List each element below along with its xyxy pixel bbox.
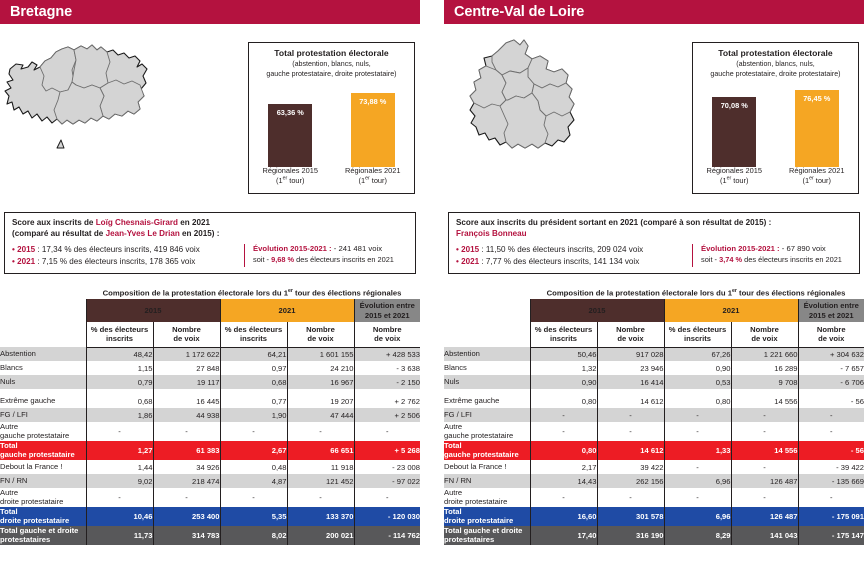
table-row: FN / RN9,02218 4744,87121 452- 97 022 (0, 474, 420, 488)
cell-pct-2021: - (220, 488, 287, 507)
table-row: Debout la France !1,4434 9260,4811 918- … (0, 460, 420, 474)
cell-pct-2021: - (220, 422, 287, 441)
cell-nb-2021: - (731, 460, 798, 474)
row-label: Totaldroite protestataire (0, 507, 86, 526)
cell-nb-2015: - (597, 422, 664, 441)
cell-evolution: - 120 030 (354, 507, 420, 526)
row-label: Autregauche protestataire (0, 422, 86, 441)
row-label-line2: gauche protestataire (0, 450, 75, 459)
subheader-pct-2021-l1: % des électeurs (225, 325, 282, 334)
cell-evolution: - 56 (798, 394, 864, 408)
table-header-groups: 2015 2021 Évolution entre 2015 et 2021 (0, 299, 420, 322)
table-caption-post: tour des élections régionales (293, 289, 402, 298)
subheader-pct-2021-l1: % des électeurs (669, 325, 726, 334)
row-label-line1: Autre (0, 488, 18, 497)
infographic-page: Bretagne Total protestation électorale (0, 0, 864, 569)
cell-nb-2021: 14 556 (731, 441, 798, 460)
cell-pct-2021: 0,97 (220, 361, 287, 375)
row-label: Abstention (0, 347, 86, 361)
subheader-nb-evo: Nombrede voix (354, 322, 420, 347)
bar-label-2021: Régionales 2021 (1er tour) (334, 167, 412, 189)
cell-nb-2021: 141 043 (731, 526, 798, 545)
cell-pct-2015: 1,86 (86, 408, 153, 422)
cell-evolution: - (354, 422, 420, 441)
table-caption-post: tour des élections régionales (737, 289, 846, 298)
table-row: Totalgauche protestataire0,8014 6121,331… (444, 441, 864, 460)
bretagne-map-svg (4, 28, 164, 178)
table-row: Totaldroite protestataire16,60301 5786,9… (444, 507, 864, 526)
cell-nb-2015: 34 926 (153, 460, 220, 474)
cell-evolution: - 135 669 (798, 474, 864, 488)
cell-pct-2021: 2,67 (220, 441, 287, 460)
table-row: Autregauche protestataire----- (0, 422, 420, 441)
cell-evolution: - 3 638 (354, 361, 420, 375)
score-evolution-column: Évolution 2015-2021 : - 67 890 voix soit… (692, 244, 852, 267)
row-label: Debout la France ! (0, 460, 86, 474)
cell-nb-2015: 218 474 (153, 474, 220, 488)
cell-pct-2015: 11,73 (86, 526, 153, 545)
protest-chart-box: Total protestation électorale (abstentio… (692, 42, 859, 194)
cell-pct-2015: - (530, 488, 597, 507)
cell-evolution: - 56 (798, 441, 864, 460)
cell-nb-2015: 27 848 (153, 361, 220, 375)
score-box: Score aux inscrits du président sortant … (448, 212, 860, 274)
score-heading: Score aux inscrits du président sortant … (456, 218, 852, 239)
row-label-line1: Total (0, 441, 18, 450)
cell-pct-2021: - (664, 460, 731, 474)
table-row: FG / LFI----- (444, 408, 864, 422)
cell-nb-2015: 917 028 (597, 347, 664, 361)
composition-table-body: Abstention48,421 172 62264,211 601 155+ … (0, 347, 420, 545)
cell-nb-2021: - (731, 488, 798, 507)
cell-pct-2015: 1,44 (86, 460, 153, 474)
bar-label-2015-line1: Régionales 2015 (263, 166, 318, 175)
evolution-label: Évolution 2015-2021 : (701, 244, 782, 253)
cell-nb-2021: 121 452 (287, 474, 354, 488)
cell-evolution: - 6 706 (798, 375, 864, 389)
row-label-line1: Autre (0, 422, 18, 431)
cell-nb-2015: 16 414 (597, 375, 664, 389)
header-evolution: Évolution entre 2015 et 2021 (354, 299, 420, 322)
cell-evolution: - 97 022 (354, 474, 420, 488)
row-label: Abstention (444, 347, 530, 361)
bar-label-2021: Régionales 2021 (1er tour) (778, 167, 856, 189)
cell-nb-2021: 24 210 (287, 361, 354, 375)
bullet-icon: • (456, 257, 459, 266)
composition-table-body: Abstention50,46917 02867,261 221 660+ 30… (444, 347, 864, 545)
centre-val-de-loire-map-svg (462, 30, 612, 180)
cell-pct-2015: 48,42 (86, 347, 153, 361)
header-spacer (0, 299, 86, 322)
cell-evolution: - 175 091 (798, 507, 864, 526)
bar-label-2021-line1: Régionales 2021 (345, 166, 400, 175)
table-caption: Composition de la protestation électoral… (0, 288, 418, 298)
score-heading: Score aux inscrits de Loïg Chesnais-Gira… (12, 218, 408, 239)
score-candidate-name: François Bonneau (456, 229, 527, 238)
score-columns: • 2015 : 17,34 % des électeurs inscrits,… (12, 244, 408, 267)
score-head2-post: en 2015) : (180, 229, 220, 238)
subheader-pct-2015-l2: inscrits (550, 334, 577, 343)
bar-column-2015: 70,08 % (711, 97, 757, 167)
header-spacer (444, 299, 530, 322)
region-title: Bretagne (0, 4, 72, 20)
centre-val-de-loire-map (462, 30, 622, 180)
subheader-nb-2015-l2: de voix (173, 334, 199, 343)
evolution-sub-pct: 9,68 % (271, 255, 294, 264)
cell-pct-2021: 0,53 (664, 375, 731, 389)
row-label: Autredroite protestataire (444, 488, 530, 507)
row-label-line2: droite protestataire (444, 497, 507, 506)
row-label-line2: droite protestataire (0, 516, 69, 525)
bar-2021: 76,45 % (795, 90, 839, 167)
score-candidate-2021: Loïg Chesnais-Girard (96, 218, 178, 227)
cell-nb-2021: 1 221 660 (731, 347, 798, 361)
table-row: Autredroite protestataire----- (0, 488, 420, 507)
bullet-icon: • (12, 257, 15, 266)
cell-pct-2015: 16,60 (530, 507, 597, 526)
table-row: Abstention50,46917 02867,261 221 660+ 30… (444, 347, 864, 361)
cell-pct-2015: 9,02 (86, 474, 153, 488)
evolution-subline: soit - 9,68 % des électeurs inscrits en … (253, 255, 408, 266)
cell-evolution: + 428 533 (354, 347, 420, 361)
row-label: FN / RN (444, 474, 530, 488)
map-and-chart-row: Total protestation électorale (abstentio… (444, 24, 864, 199)
bar-label-2015-line2: (1er tour) (720, 176, 748, 185)
row-label: Total gauche et droiteprotestataires (444, 526, 530, 545)
subheader-nb-evo-l2: de voix (374, 334, 400, 343)
score-candidate-2015: Jean-Yves Le Drian (106, 229, 180, 238)
table-row: Nuls0,9016 4140,539 708- 6 706 (444, 375, 864, 389)
row-label-line1: Total (444, 441, 462, 450)
chart-bar-labels: Régionales 2015 (1er tour) Régionales 20… (249, 167, 414, 189)
score-2015-year: 2015 (17, 245, 35, 254)
cell-pct-2015: - (86, 488, 153, 507)
score-left-column: • 2015 : 17,34 % des électeurs inscrits,… (12, 244, 244, 267)
cell-evolution: - 39 422 (798, 460, 864, 474)
chart-subtitle-line1: (abstention, blancs, nuls, (693, 60, 858, 69)
table-row: Autregauche protestataire----- (444, 422, 864, 441)
score-2015-rest: : 11,50 % des électeurs inscrits, 209 02… (479, 245, 643, 254)
table-row: Totalgauche protestataire1,2761 3832,676… (0, 441, 420, 460)
header-evolution-line2: 2015 et 2021 (809, 311, 854, 320)
bar-2015: 70,08 % (712, 97, 756, 167)
table-row: FN / RN14,43262 1566,96126 487- 135 669 (444, 474, 864, 488)
score-2021-year: 2021 (461, 257, 479, 266)
header-evolution-line1: Évolution entre (804, 301, 859, 310)
cell-nb-2021: - (287, 422, 354, 441)
evolution-sub-post: des électeurs inscrits en 2021 (742, 255, 842, 264)
bar-value-2021: 73,88 % (359, 97, 386, 167)
bullet-icon: • (12, 245, 15, 254)
cell-pct-2021: 6,96 (664, 507, 731, 526)
subheader-nb-2015: Nombrede voix (153, 322, 220, 347)
evolution-sub-pre: soit - (253, 255, 271, 264)
header-2021: 2021 (664, 299, 798, 322)
score-line-2021: • 2021 : 7,77 % des électeurs inscrits, … (456, 256, 692, 267)
protest-chart-box: Total protestation électorale (abstentio… (248, 42, 415, 194)
cell-evolution: - (798, 408, 864, 422)
score-2021-rest: : 7,77 % des électeurs inscrits, 141 134… (479, 257, 639, 266)
row-label-line2: gauche protestataire (0, 431, 69, 440)
region-title: Centre-Val de Loire (444, 4, 584, 20)
bar-label-2015-line2: (1er tour) (276, 176, 304, 185)
cell-nb-2021: 47 444 (287, 408, 354, 422)
score-evolution-column: Évolution 2015-2021 : - 241 481 voix soi… (244, 244, 408, 267)
subheader-nb-evo-l2: de voix (818, 334, 844, 343)
cell-nb-2021: 1 601 155 (287, 347, 354, 361)
subheader-spacer (0, 322, 86, 347)
table-caption: Composition de la protestation électoral… (444, 288, 862, 298)
cell-nb-2015: - (597, 408, 664, 422)
row-label: Extrême gauche (444, 394, 530, 408)
row-label: Total gauche et droiteprotestataires (0, 526, 86, 545)
chart-bars: 63,36 % 73,88 % (249, 75, 414, 167)
cell-nb-2021: 200 021 (287, 526, 354, 545)
chart-title: Total protestation électorale (693, 49, 858, 59)
cell-nb-2015: 44 938 (153, 408, 220, 422)
subheader-nb-evo-l1: Nombre (373, 325, 402, 334)
table-row: Debout la France !2,1739 422--- 39 422 (444, 460, 864, 474)
subheader-pct-2021: % des électeursinscrits (664, 322, 731, 347)
cell-nb-2021: 19 207 (287, 394, 354, 408)
bretagne-map (4, 28, 164, 178)
table-header-subs: % des électeursinscrits Nombrede voix % … (0, 322, 420, 347)
subheader-pct-2015: % des électeursinscrits (86, 322, 153, 347)
cell-pct-2021: - (664, 408, 731, 422)
table-header-groups: 2015 2021 Évolution entre 2015 et 2021 (444, 299, 864, 322)
cell-nb-2015: 316 190 (597, 526, 664, 545)
bar-label-2021-line2: (1er tour) (359, 176, 387, 185)
row-label: Autredroite protestataire (0, 488, 86, 507)
score-2015-year: 2015 (461, 245, 479, 254)
bar-2015: 63,36 % (268, 104, 312, 167)
cell-nb-2021: 14 556 (731, 394, 798, 408)
row-label: FG / LFI (444, 408, 530, 422)
chart-bar-labels: Régionales 2015 (1er tour) Régionales 20… (693, 167, 858, 189)
bar-value-2015: 63,36 % (277, 108, 304, 167)
evolution-line: Évolution 2015-2021 : - 67 890 voix (701, 244, 852, 255)
cell-nb-2015: 23 946 (597, 361, 664, 375)
cell-nb-2015: 253 400 (153, 507, 220, 526)
row-label-line1: Total gauche et droite (444, 526, 522, 535)
cell-pct-2021: 0,80 (664, 394, 731, 408)
row-label-line1: Total (444, 507, 462, 516)
subheader-nb-2021-l2: de voix (307, 334, 333, 343)
score-head2-pre: (comparé au résultat de (12, 229, 106, 238)
cell-pct-2015: 0,90 (530, 375, 597, 389)
table-row: Total gauche et droiteprotestataires11,7… (0, 526, 420, 545)
cell-pct-2015: - (530, 422, 597, 441)
cell-evolution: + 304 632 (798, 347, 864, 361)
cell-pct-2015: 1,15 (86, 361, 153, 375)
cell-pct-2021: 5,35 (220, 507, 287, 526)
cell-pct-2021: 6,96 (664, 474, 731, 488)
table-row: Totaldroite protestataire10,46253 4005,3… (0, 507, 420, 526)
table-row: Abstention48,421 172 62264,211 601 155+ … (0, 347, 420, 361)
cell-evolution: + 5 268 (354, 441, 420, 460)
row-label-line2: droite protestataire (444, 516, 513, 525)
score-columns: • 2015 : 11,50 % des électeurs inscrits,… (456, 244, 852, 267)
subheader-pct-2015-l1: % des électeurs (91, 325, 148, 334)
table-header-subs: % des électeursinscrits Nombrede voix % … (444, 322, 864, 347)
evolution-line: Évolution 2015-2021 : - 241 481 voix (253, 244, 408, 255)
table-row: Extrême gauche0,6816 4450,7719 207+ 2 76… (0, 394, 420, 408)
cell-pct-2021: 1,33 (664, 441, 731, 460)
cell-pct-2015: 50,46 (530, 347, 597, 361)
bar-2021: 73,88 % (351, 93, 395, 167)
region-panel-bretagne: Bretagne Total protestation électorale (0, 0, 420, 569)
region-panel-centre-val-de-loire: Centre-Val de Loire Total pr (444, 0, 864, 569)
table-caption-pre: Composition de la protestation électoral… (103, 289, 288, 298)
cell-pct-2015: 17,40 (530, 526, 597, 545)
cell-nb-2021: - (731, 408, 798, 422)
bar-label-2021-line1: Régionales 2021 (789, 166, 844, 175)
cell-evolution: - 23 008 (354, 460, 420, 474)
cell-nb-2015: 16 445 (153, 394, 220, 408)
map-and-chart-row: Total protestation électorale (abstentio… (0, 24, 420, 199)
cell-pct-2021: 67,26 (664, 347, 731, 361)
evolution-value: - 67 890 voix (782, 244, 826, 253)
score-line-2015: • 2015 : 11,50 % des électeurs inscrits,… (456, 244, 692, 255)
subheader-nb-2015: Nombrede voix (597, 322, 664, 347)
row-label: Blancs (0, 361, 86, 375)
subheader-pct-2015-l2: inscrits (106, 334, 133, 343)
cell-pct-2021: - (664, 422, 731, 441)
subheader-nb-evo-l1: Nombre (817, 325, 846, 334)
cell-nb-2021: 11 918 (287, 460, 354, 474)
table-caption-pre: Composition de la protestation électoral… (547, 289, 732, 298)
row-label: FG / LFI (0, 408, 86, 422)
composition-table: 2015 2021 Évolution entre 2015 et 2021 %… (0, 299, 420, 545)
row-label: FN / RN (0, 474, 86, 488)
cell-evolution: - 175 147 (798, 526, 864, 545)
subheader-pct-2021-l2: inscrits (684, 334, 711, 343)
cell-pct-2021: 0,68 (220, 375, 287, 389)
cell-nb-2015: 314 783 (153, 526, 220, 545)
cell-nb-2015: 14 612 (597, 441, 664, 460)
row-label-line2: droite protestataire (0, 497, 63, 506)
row-label: Totaldroite protestataire (444, 507, 530, 526)
cell-nb-2015: 262 156 (597, 474, 664, 488)
subheader-pct-2021-l2: inscrits (240, 334, 267, 343)
subheader-nb-2015-l1: Nombre (616, 325, 645, 334)
bar-label-2015-line1: Régionales 2015 (707, 166, 762, 175)
cell-pct-2021: 0,48 (220, 460, 287, 474)
row-label-line2: protestataires (444, 535, 494, 544)
table-row: Blancs1,3223 9460,9016 289- 7 657 (444, 361, 864, 375)
cell-nb-2015: 39 422 (597, 460, 664, 474)
row-label-line1: Total gauche et droite (0, 526, 78, 535)
table-row: Nuls0,7919 1170,6816 967- 2 150 (0, 375, 420, 389)
table-row: Autredroite protestataire----- (444, 488, 864, 507)
cell-pct-2021: 8,29 (664, 526, 731, 545)
subheader-pct-2015-l1: % des électeurs (535, 325, 592, 334)
cell-nb-2021: - (287, 488, 354, 507)
row-label: Blancs (444, 361, 530, 375)
cell-nb-2015: - (153, 422, 220, 441)
cell-nb-2015: - (153, 488, 220, 507)
header-2015: 2015 (530, 299, 664, 322)
cell-evolution: + 2 506 (354, 408, 420, 422)
subheader-spacer (444, 322, 530, 347)
cell-nb-2021: 133 370 (287, 507, 354, 526)
cell-pct-2021: 4,87 (220, 474, 287, 488)
evolution-value: - 241 481 voix (334, 244, 382, 253)
cell-pct-2021: 64,21 (220, 347, 287, 361)
header-2021: 2021 (220, 299, 354, 322)
cell-pct-2021: 0,90 (664, 361, 731, 375)
row-label: Totalgauche protestataire (444, 441, 530, 460)
cell-evolution: + 2 762 (354, 394, 420, 408)
cell-pct-2015: 2,17 (530, 460, 597, 474)
bar-value-2021: 76,45 % (803, 94, 830, 167)
cell-nb-2021: - (731, 422, 798, 441)
evolution-label: Évolution 2015-2021 : (253, 244, 334, 253)
cell-nb-2015: - (597, 488, 664, 507)
cell-pct-2015: - (530, 408, 597, 422)
subheader-nb-2021: Nombrede voix (287, 322, 354, 347)
cell-evolution: - (798, 488, 864, 507)
composition-table: 2015 2021 Évolution entre 2015 et 2021 %… (444, 299, 864, 545)
cell-pct-2015: 14,43 (530, 474, 597, 488)
score-head-pre: Score aux inscrits de (12, 218, 96, 227)
cell-nb-2015: 14 612 (597, 394, 664, 408)
score-line-2021: • 2021 : 7,15 % des électeurs inscrits, … (12, 256, 244, 267)
bar-label-2015: Régionales 2015 (1er tour) (695, 167, 773, 189)
subheader-nb-2021-l1: Nombre (750, 325, 779, 334)
header-evolution-line2: 2015 et 2021 (365, 311, 410, 320)
row-label-line2: gauche protestataire (444, 431, 513, 440)
evolution-sub-pct: 3,74 % (719, 255, 742, 264)
cell-pct-2021: 0,77 (220, 394, 287, 408)
bar-column-2021: 76,45 % (794, 90, 840, 167)
row-label: Autregauche protestataire (444, 422, 530, 441)
row-label-line1: Total (0, 507, 18, 516)
row-label: Extrême gauche (0, 394, 86, 408)
score-left-column: • 2015 : 11,50 % des électeurs inscrits,… (456, 244, 692, 267)
cell-evolution: - 7 657 (798, 361, 864, 375)
bar-value-2015: 70,08 % (721, 101, 748, 167)
row-label: Totalgauche protestataire (0, 441, 86, 460)
cell-pct-2021: - (664, 488, 731, 507)
table-row: FG / LFI1,8644 9381,9047 444+ 2 506 (0, 408, 420, 422)
cell-evolution: - (798, 422, 864, 441)
bar-column-2021: 73,88 % (350, 93, 396, 167)
subheader-nb-2021: Nombrede voix (731, 322, 798, 347)
bar-column-2015: 63,36 % (267, 104, 313, 167)
chart-bars: 70,08 % 76,45 % (693, 75, 858, 167)
subheader-nb-evo: Nombrede voix (798, 322, 864, 347)
evolution-sub-pre: soit - (701, 255, 719, 264)
cell-nb-2021: 126 487 (731, 507, 798, 526)
cell-pct-2015: 0,80 (530, 394, 597, 408)
header-evolution-line1: Évolution entre (360, 301, 415, 310)
score-head-post: en 2021 (178, 218, 210, 227)
cell-nb-2021: 16 967 (287, 375, 354, 389)
cell-evolution: - (354, 488, 420, 507)
subheader-nb-2021-l1: Nombre (306, 325, 335, 334)
cell-pct-2015: 1,27 (86, 441, 153, 460)
bar-label-2021-line2: (1er tour) (803, 176, 831, 185)
subheader-nb-2015-l2: de voix (617, 334, 643, 343)
cell-nb-2015: 301 578 (597, 507, 664, 526)
subheader-nb-2021-l2: de voix (751, 334, 777, 343)
bar-label-2015: Régionales 2015 (1er tour) (251, 167, 329, 189)
row-label-line2: gauche protestataire (444, 450, 519, 459)
score-box: Score aux inscrits de Loïg Chesnais-Gira… (4, 212, 416, 274)
cell-nb-2015: 19 117 (153, 375, 220, 389)
evolution-subline: soit - 3,74 % des électeurs inscrits en … (701, 255, 852, 266)
